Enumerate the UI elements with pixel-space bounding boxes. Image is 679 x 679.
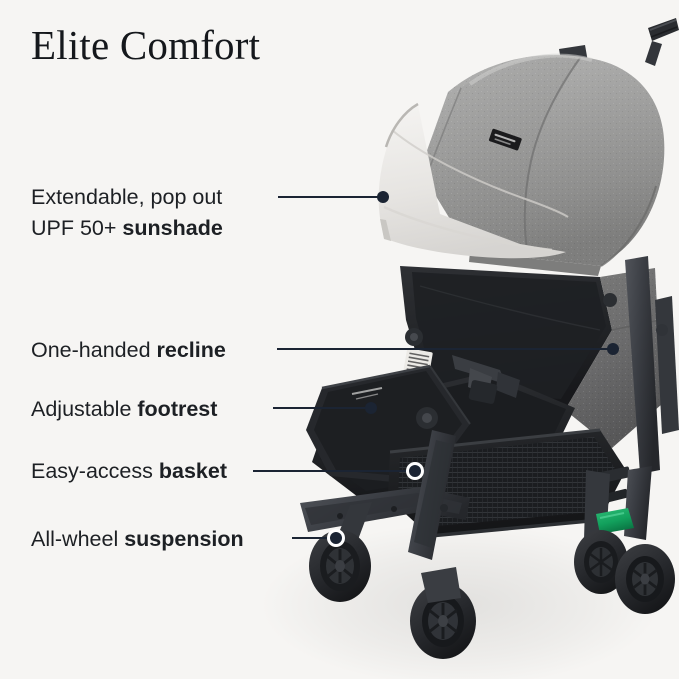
frame-lower-rail [300,487,470,532]
callout-suspension-bold: suspension [124,527,243,551]
callout-label-recline: One-handed recline [31,335,226,366]
brake-pedal [596,508,634,534]
callout-sunshade-line2-regular: UPF 50+ [31,216,122,240]
seat-back [400,266,612,410]
front-wheel-suspension [421,567,461,603]
leader-dot-recline [607,343,619,355]
callout-basket-regular: Easy-access [31,459,159,483]
harness-straps [416,355,520,466]
canopy [420,55,664,276]
callout-sunshade-line2-bold: sunshade [122,216,222,240]
callout-basket-bold: basket [159,459,227,483]
canopy-hinge-stub [559,45,588,66]
floor-shadow [230,430,679,679]
leader-dot-basket [409,465,421,477]
brand-tag-canopy [489,128,523,150]
under-seat-basket [388,430,631,536]
leader-line-suspension [292,537,332,539]
callout-suspension-regular: All-wheel [31,527,124,551]
product-feature-infographic: Elite Comfort Extendable, pop out UPF 50… [0,0,679,679]
frame-front-legs [332,430,456,560]
wheel-front-left [410,567,476,659]
callout-label-footrest: Adjustable footrest [31,394,217,425]
leader-dot-sunshade [377,191,389,203]
leader-line-sunshade [278,196,378,198]
leader-line-recline [277,348,610,350]
callout-recline-bold: recline [157,338,226,362]
leader-dot-footrest [365,402,377,414]
seat-bottom [312,372,575,500]
callout-label-suspension: All-wheel suspension [31,524,244,555]
callout-label-basket: Easy-access basket [31,456,227,487]
callout-footrest-bold: footrest [137,397,217,421]
callout-recline-regular: One-handed [31,338,157,362]
page-title: Elite Comfort [31,21,260,69]
seat-side-panel [565,268,662,448]
frame-rear-legs [584,256,679,546]
wheel-rear-right [574,530,628,594]
leader-line-footrest [273,407,366,409]
canopy-pop-out-extension [379,104,568,258]
leader-dot-suspension [330,532,342,544]
leader-line-basket [253,470,412,472]
frame-hinges [405,293,668,429]
warning-label [401,348,433,388]
brand-mark-footrest [352,388,382,399]
handlebar [645,18,679,66]
wheel-front-right [615,544,675,614]
callout-label-sunshade: Extendable, pop out UPF 50+ sunshade [31,182,223,243]
footrest-panel [306,366,470,485]
callout-footrest-regular: Adjustable [31,397,137,421]
callout-sunshade-line1: Extendable, pop out [31,185,222,209]
